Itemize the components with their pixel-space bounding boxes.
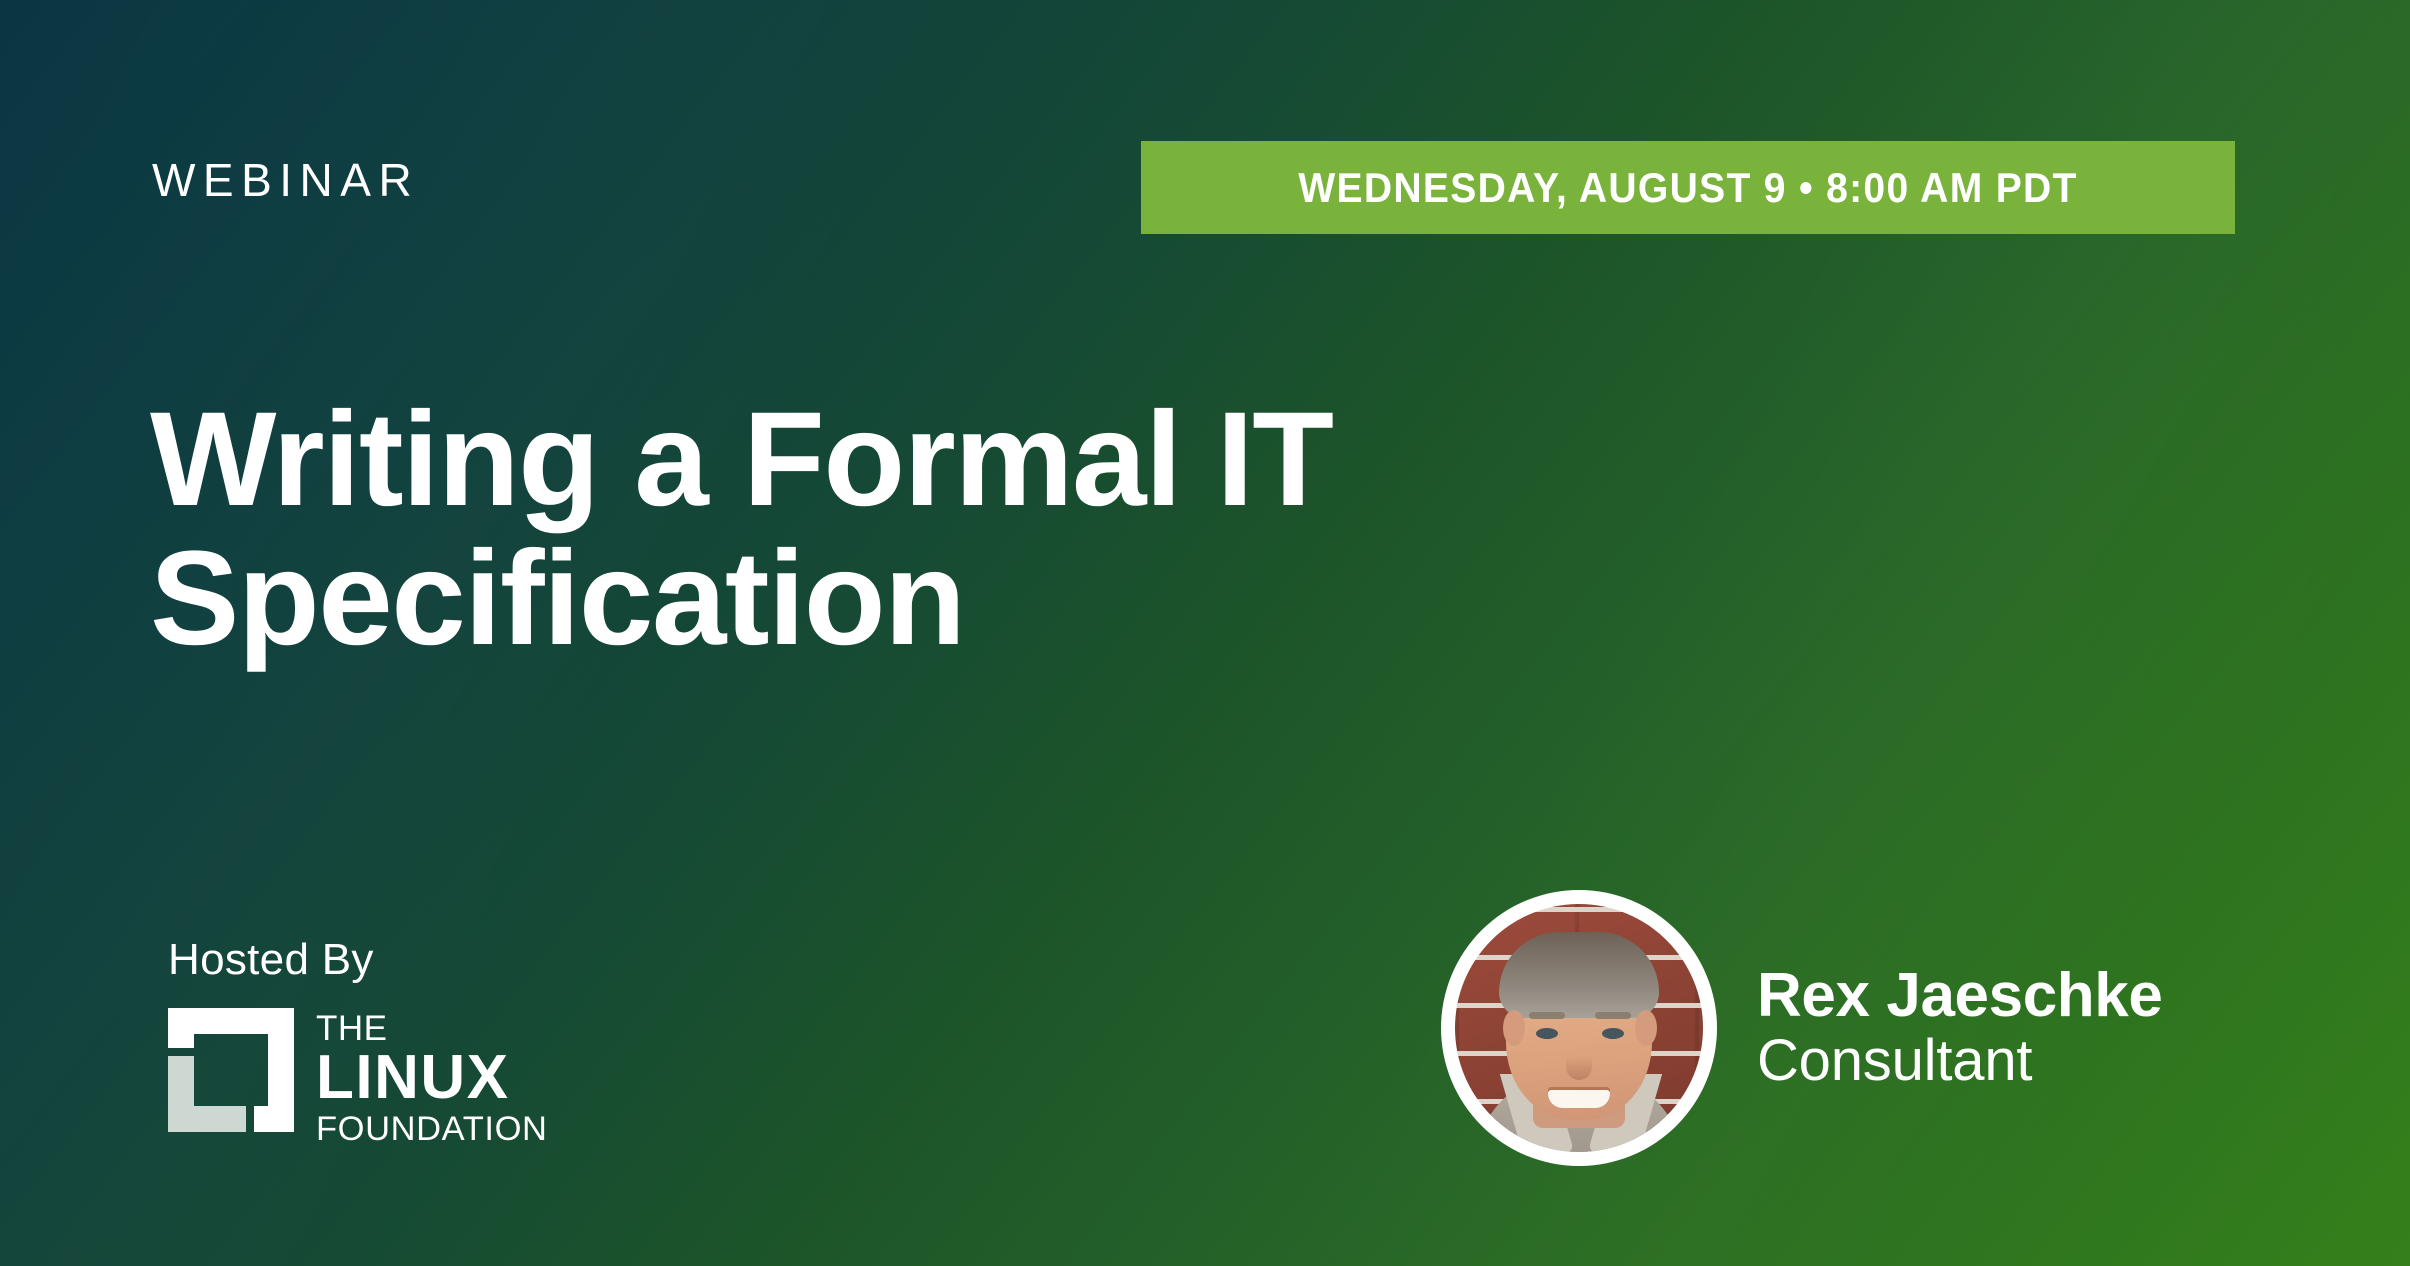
linux-foundation-mark-icon <box>168 1008 294 1132</box>
logo-text-linux: LINUX <box>316 1047 548 1109</box>
speaker-block: Rex Jaeschke Consultant <box>1441 890 2162 1166</box>
logo-text-foundation: FOUNDATION <box>316 1112 548 1147</box>
page-title: Writing a Formal IT Specification <box>150 390 1790 669</box>
date-time-banner: WEDNESDAY, AUGUST 9 • 8:00 AM PDT <box>1141 141 2235 234</box>
avatar-ear-right <box>1635 1010 1657 1046</box>
eyebrow-label: WEBINAR <box>152 157 419 203</box>
linux-foundation-wordmark: THE LINUX FOUNDATION <box>316 1008 548 1147</box>
hosted-by-block: Hosted By THE LINUX FOUNDATION <box>168 938 548 1147</box>
avatar-ear-left <box>1503 1010 1525 1046</box>
date-time-text: WEDNESDAY, AUGUST 9 • 8:00 AM PDT <box>1298 167 2077 209</box>
logo-text-the: THE <box>316 1012 548 1046</box>
avatar-photo <box>1455 904 1703 1152</box>
avatar-eye-left <box>1536 1028 1558 1039</box>
hosted-by-label: Hosted By <box>168 938 548 982</box>
avatar <box>1441 890 1717 1166</box>
avatar-mouth <box>1548 1090 1610 1108</box>
webinar-promo-card: WEBINAR WEDNESDAY, AUGUST 9 • 8:00 AM PD… <box>0 0 2410 1266</box>
avatar-hair <box>1499 932 1659 1018</box>
linux-foundation-logo: THE LINUX FOUNDATION <box>168 1008 548 1147</box>
speaker-role: Consultant <box>1757 1029 2162 1093</box>
avatar-nose <box>1566 1040 1592 1080</box>
speaker-name: Rex Jaeschke <box>1757 963 2162 1029</box>
avatar-brow-left <box>1529 1012 1565 1019</box>
avatar-eye-right <box>1602 1028 1624 1039</box>
speaker-text: Rex Jaeschke Consultant <box>1757 963 2162 1093</box>
page-title-line-2: Specification <box>150 529 1790 668</box>
page-title-line-1: Writing a Formal IT <box>150 390 1790 529</box>
avatar-brow-right <box>1595 1012 1631 1019</box>
